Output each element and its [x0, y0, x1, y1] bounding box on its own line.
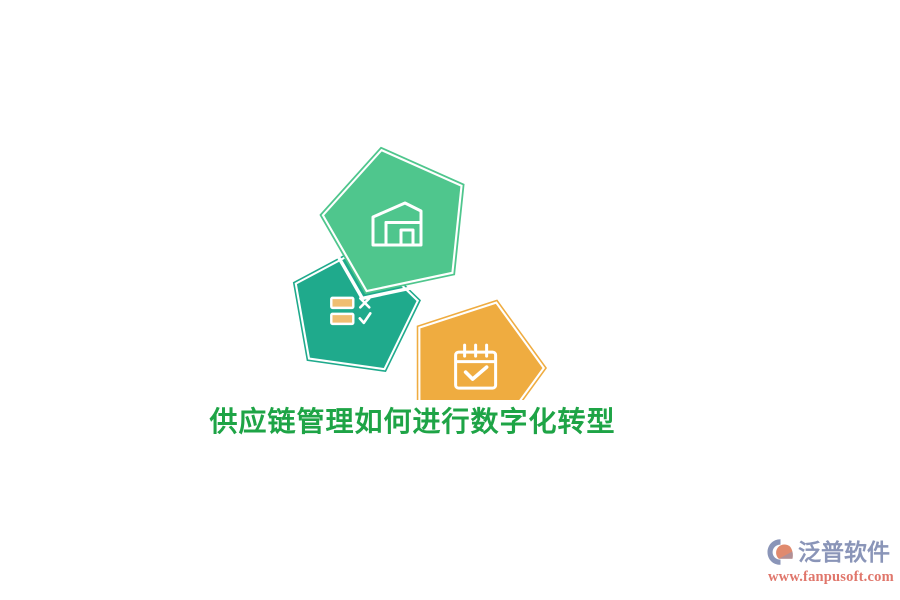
watermark: 泛普软件 www.fanpusoft.com: [766, 536, 894, 590]
fanpu-swirl-logo-icon: [766, 537, 796, 567]
watermark-url: www.fanpusoft.com: [766, 569, 894, 586]
illustration-three-pentagon-cluster: [270, 140, 570, 400]
page-canvas: 供应链管理如何进行数字化转型 泛普软件 www.fanpusoft.com: [0, 0, 900, 600]
page-title: 供应链管理如何进行数字化转型: [0, 402, 825, 442]
watermark-brand-row: 泛普软件: [766, 536, 894, 568]
checklist-chip-2: [331, 314, 353, 324]
checklist-chip-1: [331, 298, 353, 308]
watermark-company-name: 泛普软件: [798, 537, 890, 567]
